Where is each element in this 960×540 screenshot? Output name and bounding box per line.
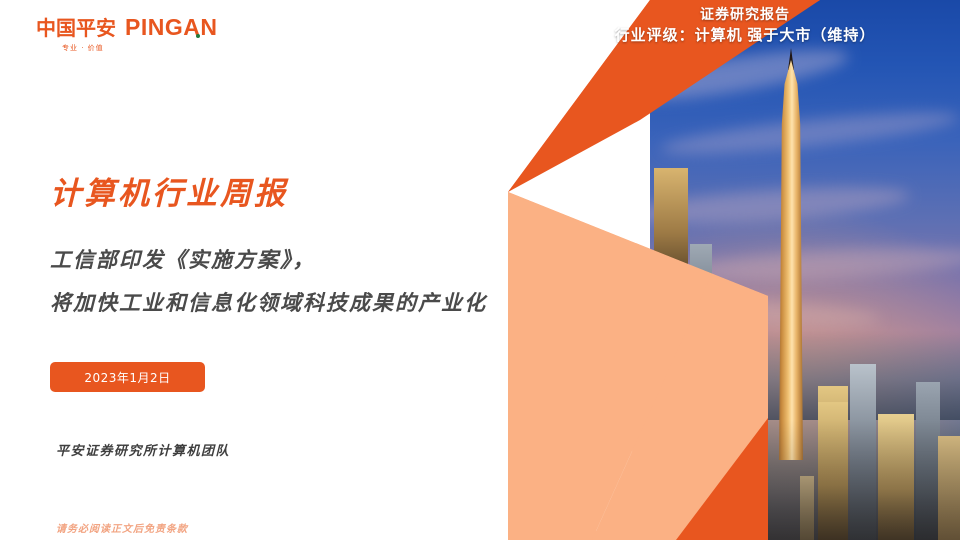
- tower-band: [714, 320, 732, 416]
- logo-tagline: 专业 · 价值: [62, 43, 217, 53]
- logo-chinese-name: 中国平安: [36, 18, 116, 38]
- tower-band: [654, 168, 688, 286]
- subtitle-line-2: 将加快工业和信息化领域科技成果的产业化: [50, 281, 487, 324]
- tower-band: [690, 244, 712, 394]
- industry-rating-label: 行业评级：计算机 强于大市（维持）: [530, 26, 960, 48]
- research-team-label: 平安证券研究所计算机团队: [56, 440, 230, 459]
- report-cover-slide: 中国平安 PINGAN 专业 · 价值 证券研究报告 行业评级：计算机 强于大市…: [0, 0, 960, 540]
- cover-photo: [650, 0, 960, 540]
- logo-english-name: PINGAN: [125, 16, 217, 39]
- logo-row: 中国平安 PINGAN: [36, 16, 217, 39]
- page-subtitle: 工信部印发《实施方案》， 将加快工业和信息化领域科技成果的产业化: [50, 238, 487, 324]
- report-header: 证券研究报告 行业评级：计算机 强于大市（维持）: [530, 6, 960, 48]
- publish-date-badge: 2023年1月2日: [50, 362, 205, 392]
- ground-haze: [650, 420, 960, 540]
- page-title: 计算机行业周报: [50, 168, 288, 213]
- subtitle-line-1: 工信部印发《实施方案》，: [50, 238, 487, 281]
- disclaimer-note: 请务必阅读正文后免责条款: [56, 520, 188, 535]
- logo-english-text: PINGAN: [125, 14, 217, 40]
- pingan-logo[interactable]: 中国平安 PINGAN 专业 · 价值: [36, 16, 217, 53]
- report-type-label: 证券研究报告: [530, 6, 960, 26]
